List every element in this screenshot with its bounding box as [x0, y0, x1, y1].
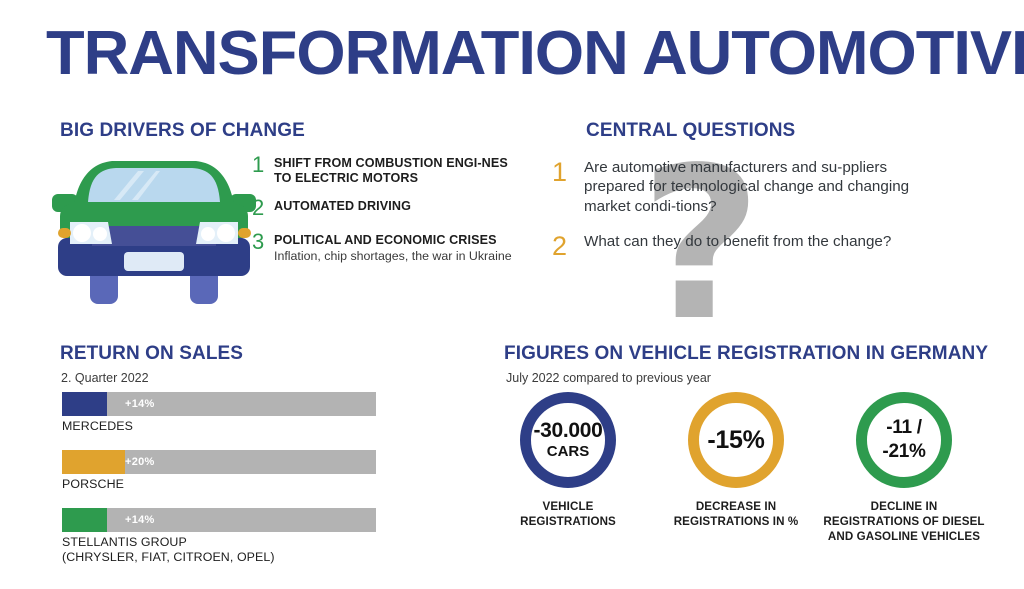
list-item-number: 2 [552, 232, 584, 260]
return-on-sales-subtitle: 2. Quarter 2022 [61, 371, 149, 385]
bar-row: +14% MERCEDES [62, 392, 376, 434]
kpi-caption-line: AND GASOLINE VEHICLES [823, 529, 984, 544]
list-item-text: What can they do to benefit from the cha… [584, 232, 924, 251]
bar-value-label: +20% [125, 450, 155, 474]
list-item-title: POLITICAL AND ECONOMIC CRISES [274, 233, 512, 248]
bar-value-label: +14% [125, 392, 155, 416]
list-item: 1 Are automotive manufacturers and su-pp… [552, 158, 924, 216]
list-item-number: 2 [252, 197, 274, 219]
return-on-sales-bar-chart: +14% MERCEDES +20% PORSCHE +14% STELLANT… [62, 392, 376, 573]
registration-kpi-group: -30.000 CARS VEHICLE REGISTRATIONS -15% … [484, 392, 1004, 544]
kpi-decrease-percent: -15% DECREASE IN REGISTRATIONS IN % [652, 392, 820, 544]
list-item-number: 1 [552, 158, 584, 186]
section-heading-return-on-sales: RETURN ON SALES [60, 343, 243, 365]
bar-fill [62, 392, 107, 416]
kpi-caption-line: REGISTRATIONS OF DIESEL [823, 514, 984, 529]
kpi-caption-line: DECREASE IN [674, 499, 799, 514]
bar-track: +14% [62, 392, 376, 416]
section-heading-drivers: BIG DRIVERS OF CHANGE [60, 120, 305, 142]
kpi-ring: -11 / -21% [856, 392, 952, 488]
kpi-caption-line: REGISTRATIONS [520, 514, 616, 529]
kpi-vehicle-registrations: -30.000 CARS VEHICLE REGISTRATIONS [484, 392, 652, 544]
page-title: TRANSFORMATION AUTOMOTIVE [46, 18, 1024, 89]
drivers-list: 1 SHIFT FROM COMBUSTION ENGI-NES TO ELEC… [252, 156, 512, 277]
kpi-caption: DECLINE IN REGISTRATIONS OF DIESEL AND G… [823, 499, 984, 544]
list-item: 2 What can they do to benefit from the c… [552, 232, 924, 260]
bar-track: +20% [62, 450, 376, 474]
list-item-title: AUTOMATED DRIVING [274, 199, 512, 214]
kpi-ring: -30.000 CARS [520, 392, 616, 488]
kpi-caption-line: VEHICLE [520, 499, 616, 514]
list-item: 3 POLITICAL AND ECONOMIC CRISES Inflatio… [252, 233, 512, 265]
bar-value-label: +14% [125, 508, 155, 532]
bar-category-label: PORSCHE [62, 477, 376, 492]
kpi-caption: DECREASE IN REGISTRATIONS IN % [674, 499, 799, 529]
registrations-subtitle: July 2022 compared to previous year [506, 371, 711, 385]
kpi-diesel-gasoline-decline: -11 / -21% DECLINE IN REGISTRATIONS OF D… [820, 392, 988, 544]
kpi-unit: CARS [547, 443, 590, 460]
bar-row: +20% PORSCHE [62, 450, 376, 492]
kpi-value-line1: -11 / [886, 416, 921, 440]
kpi-value-line2: -21% [882, 440, 925, 464]
car-front-icon [52, 152, 257, 312]
bar-track: +14% [62, 508, 376, 532]
bar-category-label: MERCEDES [62, 419, 376, 434]
kpi-caption-line: DECLINE IN [823, 499, 984, 514]
list-item-text: Are automotive manufacturers and su-ppli… [584, 158, 924, 216]
bar-fill [62, 508, 107, 532]
list-item: 1 SHIFT FROM COMBUSTION ENGI-NES TO ELEC… [252, 156, 512, 187]
infographic-page: TRANSFORMATION AUTOMOTIVE BIG DRIVERS OF… [0, 0, 1024, 589]
bar-category-sublabel: (CHRYSLER, FIAT, CITROEN, OPEL) [62, 550, 376, 565]
bar-fill [62, 450, 125, 474]
kpi-caption-line: REGISTRATIONS IN % [674, 514, 799, 529]
list-item-title: SHIFT FROM COMBUSTION ENGI-NES TO ELECTR… [274, 156, 512, 187]
list-item-number: 3 [252, 231, 274, 253]
kpi-caption: VEHICLE REGISTRATIONS [520, 499, 616, 529]
kpi-ring: -15% [688, 392, 784, 488]
bar-row: +14% STELLANTIS GROUP (CHRYSLER, FIAT, C… [62, 508, 376, 565]
list-item: 2 AUTOMATED DRIVING [252, 199, 512, 219]
section-heading-registrations: FIGURES ON VEHICLE REGISTRATION IN GERMA… [504, 343, 988, 365]
list-item-number: 1 [252, 154, 274, 176]
kpi-value: -15% [707, 428, 764, 453]
list-item-note: Inflation, chip shortages, the war in Uk… [274, 249, 512, 265]
questions-list: 1 Are automotive manufacturers and su-pp… [552, 158, 924, 277]
bar-category-label: STELLANTIS GROUP [62, 535, 376, 550]
kpi-value: -30.000 [533, 420, 602, 441]
